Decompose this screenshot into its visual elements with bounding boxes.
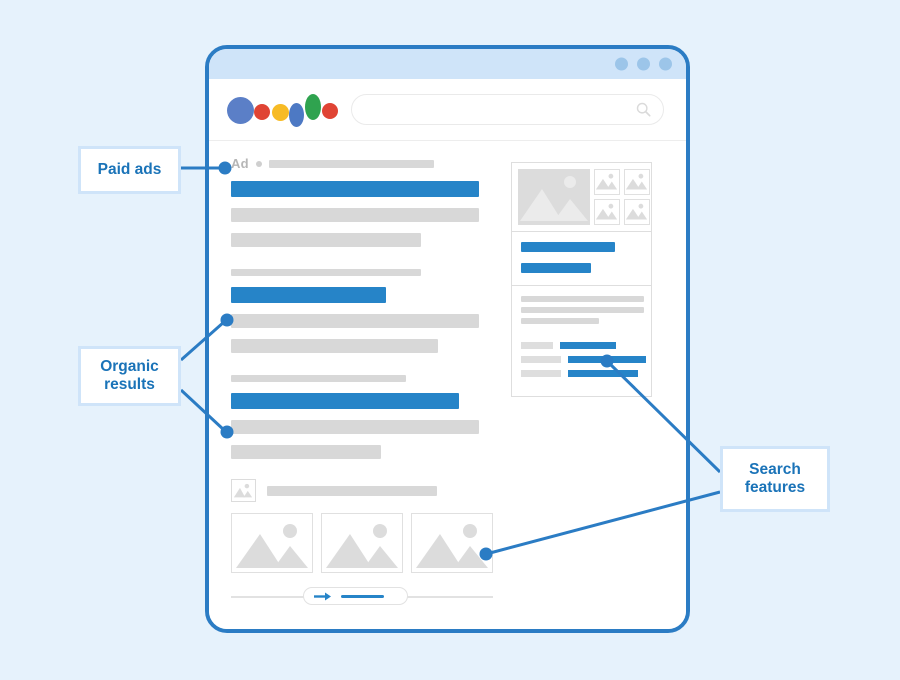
logo-dot-red-2: [322, 103, 338, 119]
knowledge-panel-text-line-3: [521, 318, 599, 324]
image-icon: [231, 479, 256, 502]
knowledge-panel-attribute-row: [521, 370, 642, 377]
callout-organic-results-label: Organicresults: [100, 358, 159, 395]
image-icon-large[interactable]: [518, 169, 590, 225]
bullet-dot-icon: [256, 161, 262, 167]
image-pack-header: [231, 479, 493, 502]
search-icon[interactable]: [636, 102, 651, 117]
serp-side-column: [511, 157, 652, 633]
knowledge-panel-text-line-2: [521, 307, 644, 313]
image-card-2[interactable]: [321, 513, 403, 573]
knowledge-panel-link-1[interactable]: [521, 242, 615, 252]
knowledge-panel-details: [512, 285, 651, 396]
knowledge-panel-text-line-1: [521, 296, 644, 302]
search-box[interactable]: [351, 94, 664, 125]
ad-description-line-1: [231, 208, 479, 222]
organic-2-url-placeholder: [231, 375, 406, 382]
image-carousel[interactable]: [231, 513, 493, 573]
logo-dot-red: [254, 104, 270, 120]
organic-2-title-placeholder[interactable]: [231, 393, 459, 409]
scrollbar-handle[interactable]: [303, 587, 408, 605]
organic-1-description-line-2: [231, 339, 438, 353]
organic-1-description-line-1: [231, 314, 479, 328]
knowledge-panel[interactable]: [511, 162, 652, 397]
arrow-right-icon[interactable]: [314, 592, 331, 601]
logo-dot-blue-large: [227, 97, 254, 124]
callout-organic-results: Organicresults: [78, 346, 181, 406]
thumb-2[interactable]: [624, 169, 650, 195]
ad-url-placeholder: [269, 160, 434, 168]
knowledge-panel-links: [512, 231, 651, 285]
window-controls: [615, 58, 672, 71]
knowledge-panel-images: [512, 163, 651, 231]
organic-result-1[interactable]: [231, 269, 493, 353]
ad-badge: Ad: [231, 157, 249, 171]
attribute-value[interactable]: [568, 370, 638, 377]
organic-1-url-placeholder: [231, 269, 421, 276]
knowledge-panel-attribute-row: [521, 342, 642, 349]
callout-search-features-label: Searchfeatures: [745, 461, 805, 498]
callout-paid-ads-label: Paid ads: [98, 161, 162, 179]
search-input[interactable]: [368, 104, 636, 116]
knowledge-panel-attribute-row: [521, 356, 642, 363]
organic-1-title-placeholder[interactable]: [231, 287, 386, 303]
window-dot-2[interactable]: [637, 58, 650, 71]
thumb-4[interactable]: [624, 199, 650, 225]
attribute-label: [521, 370, 561, 377]
attribute-value[interactable]: [568, 356, 646, 363]
knowledge-panel-attributes: [521, 342, 642, 377]
thumb-3[interactable]: [594, 199, 620, 225]
image-pack: [231, 479, 493, 605]
knowledge-panel-thumbnails: [594, 169, 650, 225]
logo-oval-blue: [289, 103, 304, 127]
image-card-3[interactable]: [411, 513, 493, 573]
serp-main-column: Ad: [231, 157, 493, 633]
attribute-value[interactable]: [560, 342, 616, 349]
scrollbar-handle-line: [341, 595, 384, 598]
callout-paid-ads: Paid ads: [78, 146, 181, 194]
organic-result-2[interactable]: [231, 375, 493, 459]
callout-search-features: Searchfeatures: [720, 446, 830, 512]
search-header: [209, 79, 686, 141]
ad-title-placeholder[interactable]: [231, 181, 479, 197]
organic-2-description-line-2: [231, 445, 381, 459]
google-dots-logo[interactable]: [227, 90, 335, 130]
browser-titlebar: [209, 49, 686, 79]
image-card-1[interactable]: [231, 513, 313, 573]
diagram-canvas: Ad: [0, 0, 900, 680]
attribute-label: [521, 342, 553, 349]
ad-description-line-2: [231, 233, 421, 247]
organic-2-description-line-1: [231, 420, 479, 434]
browser-window: Ad: [205, 45, 690, 633]
serp-results-body: Ad: [209, 141, 686, 633]
thumb-1[interactable]: [594, 169, 620, 195]
window-dot-1[interactable]: [615, 58, 628, 71]
window-dot-3[interactable]: [659, 58, 672, 71]
knowledge-panel-link-2[interactable]: [521, 263, 591, 273]
logo-dot-yellow: [272, 104, 289, 121]
ad-result[interactable]: Ad: [231, 157, 493, 247]
logo-oval-green: [305, 94, 321, 120]
ad-label-row: Ad: [231, 157, 493, 171]
image-pack-title-placeholder: [267, 486, 437, 496]
carousel-scrollbar[interactable]: [231, 587, 493, 605]
attribute-label: [521, 356, 561, 363]
knowledge-panel-text-block: [521, 296, 642, 332]
